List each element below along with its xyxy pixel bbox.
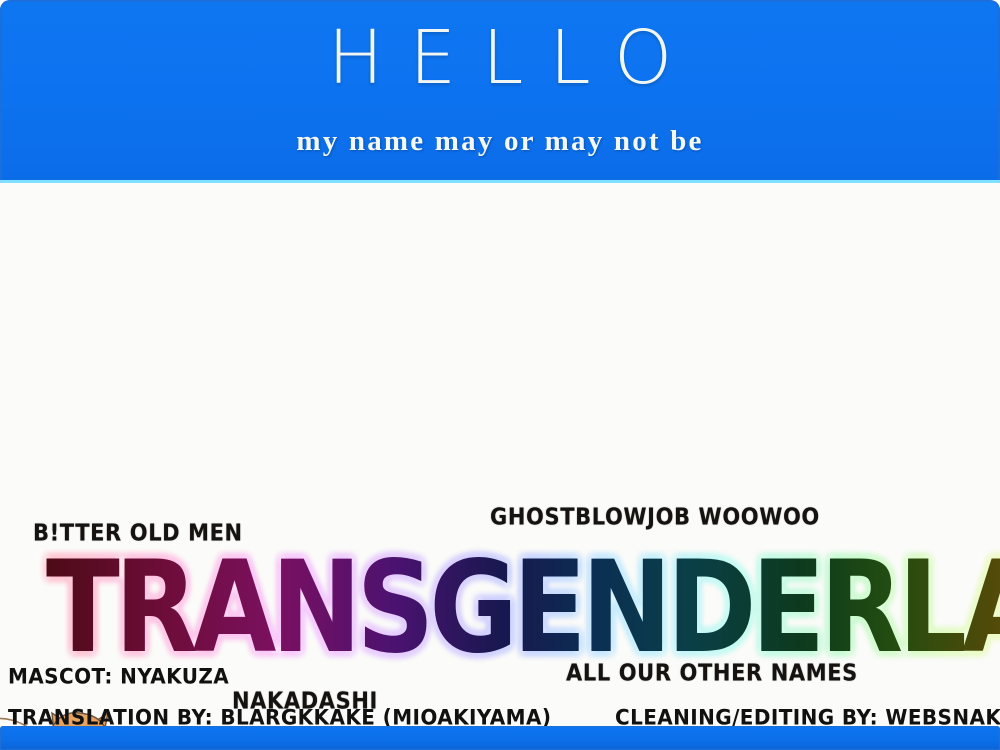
credit-mascot: MASCOT: NYAKUZA (8, 663, 229, 689)
content-area: TRANSGENDERLAT!ONS TRANSGENDERLAT!ONS TR… (0, 183, 1000, 726)
alias-label-bitter-old-men: B!TTER OLD MEN (33, 519, 243, 546)
alias-label-ghostblowjob-woowoo: GHOSTBLOWJOB WOOWOO (490, 503, 820, 530)
credits-page: HELLO my name may or may not be TRANSGEN… (0, 0, 1000, 750)
hello-name-tag-header: HELLO my name may or may not be (0, 0, 1000, 183)
group-logo-block: TRANSGENDERLAT!ONS TRANSGENDERLAT!ONS TR… (0, 483, 1000, 733)
alias-label-all-our-other-names: ALL OUR OTHER NAMES (566, 659, 858, 686)
header-tagline: my name may or may not be (0, 124, 1000, 158)
page-title: HELLO (0, 16, 1000, 100)
footer-bar (0, 726, 1000, 750)
group-logo-text: TRANSGENDERLAT!ONS (46, 539, 1000, 676)
